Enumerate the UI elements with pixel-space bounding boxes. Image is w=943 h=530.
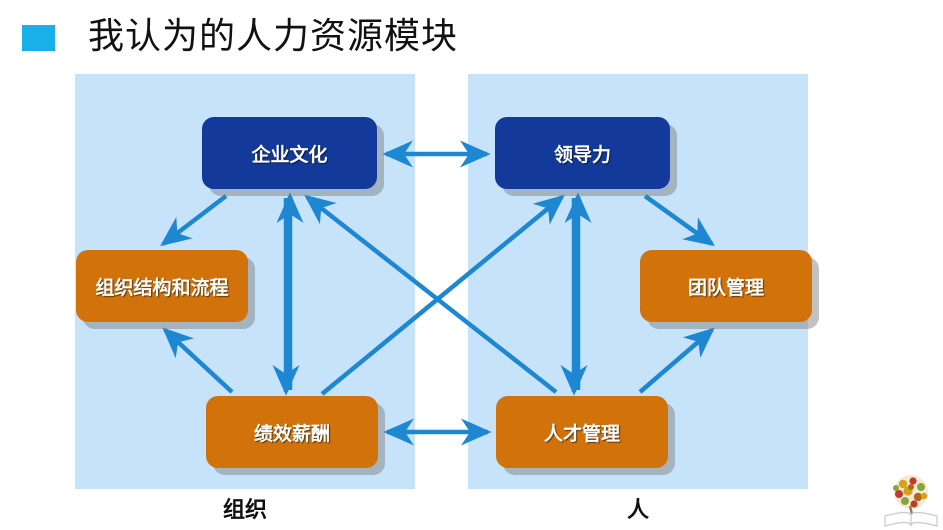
arrow-leadership-team [645,196,712,244]
node-structure-label: 组织结构和流程 [95,273,228,300]
arrow-pay-leadership [322,197,562,394]
node-culture[interactable]: 企业文化 [202,117,377,189]
node-talent-label: 人才管理 [544,419,620,446]
arrow-talent-team [640,330,712,392]
arrow-talent-culture [307,197,556,392]
node-leadership-label: 领导力 [554,140,611,167]
node-talent[interactable]: 人才管理 [496,396,668,468]
caption-organization: 组织 [75,492,415,524]
node-culture-label: 企业文化 [251,140,327,167]
node-team-label: 团队管理 [688,273,764,300]
tree-book-logo-icon [883,470,939,528]
caption-people: 人 [468,492,808,524]
node-structure[interactable]: 组织结构和流程 [76,250,248,322]
node-pay-label: 绩效薪酬 [254,419,330,446]
arrow-pay-structure [165,330,232,392]
node-team[interactable]: 团队管理 [640,250,812,322]
node-leadership[interactable]: 领导力 [495,117,670,189]
node-pay[interactable]: 绩效薪酬 [206,396,378,468]
slide-canvas: 我认为的人力资源模块 [0,0,943,530]
arrow-culture-structure [163,196,226,244]
